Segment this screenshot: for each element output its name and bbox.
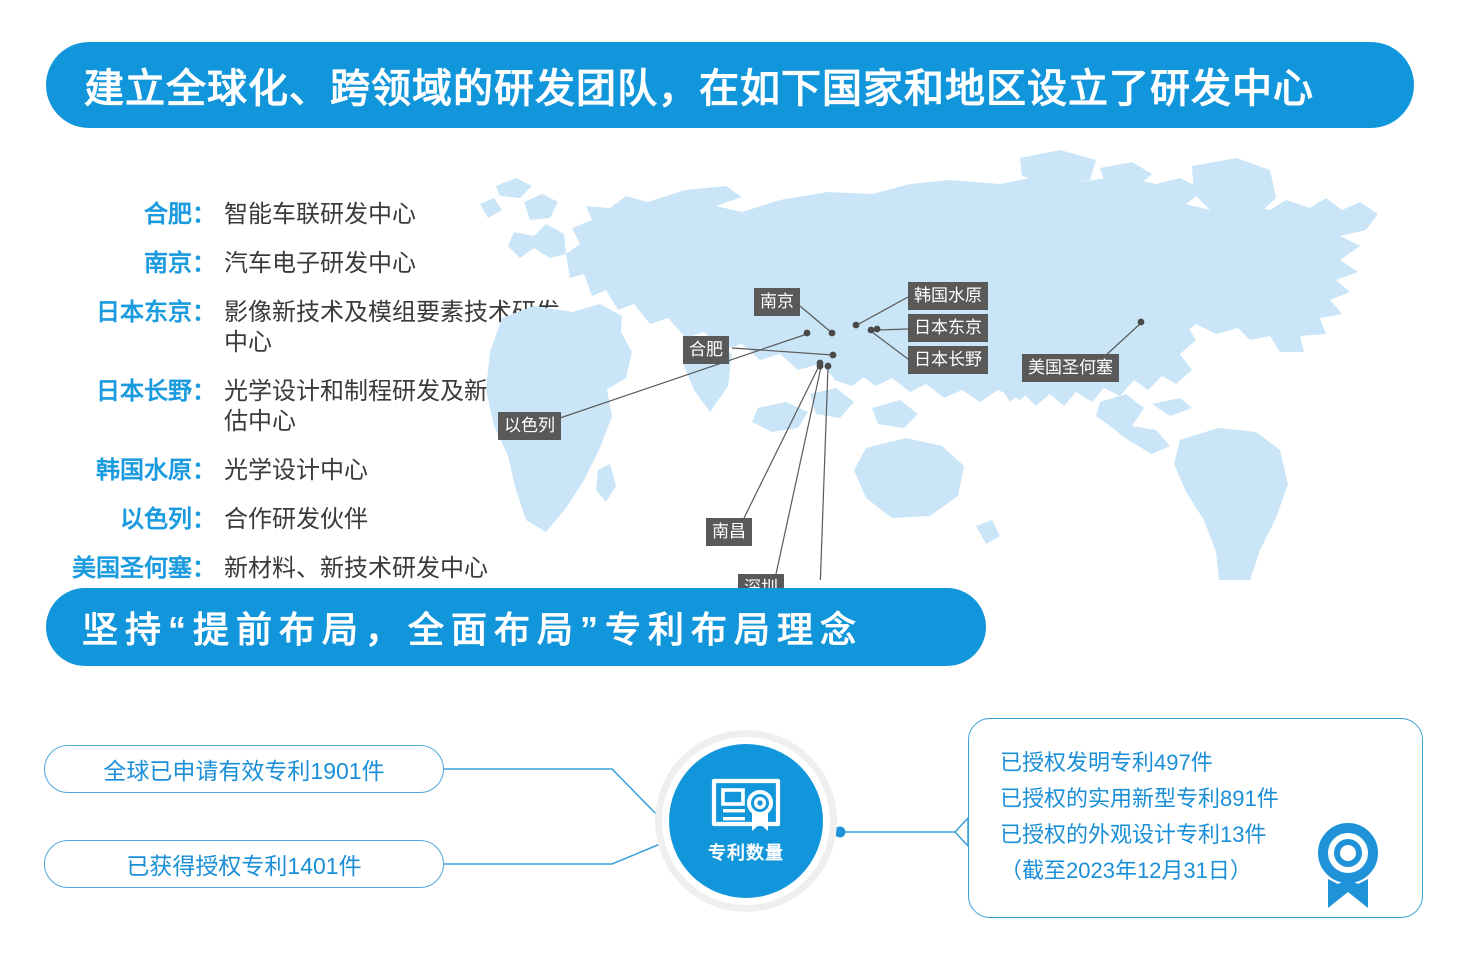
connector-granted-to-hub <box>444 842 665 864</box>
patent-pill-granted-text: 已获得授权专利1401件 <box>126 847 361 881</box>
rd-center-city: 以色列 <box>20 505 192 535</box>
rd-center-city: 南京 <box>20 249 192 279</box>
patent-detail-line: 已授权的实用新型专利891件 <box>1000 781 1360 817</box>
panel-notch <box>955 818 968 846</box>
city-dot-nanjing <box>829 330 836 337</box>
patent-pill-applied-text: 全球已申请有效专利1901件 <box>103 752 384 786</box>
patent-hub-label: 专利数量 <box>708 839 784 865</box>
map-label-nanjing[interactable]: 南京 <box>754 288 800 316</box>
patent-diagram: 全球已申请有效专利1901件 已获得授权专利1401件 专利数量 已授权发明专利… <box>0 690 1459 973</box>
city-dot-tokyo <box>874 326 881 333</box>
city-dot-suwon <box>853 322 860 329</box>
city-dot-israel <box>804 330 811 337</box>
rd-center-city: 韩国水原 <box>20 456 192 486</box>
rd-center-city: 美国圣何塞 <box>20 554 192 584</box>
map-label-israel[interactable]: 以色列 <box>498 412 561 440</box>
rd-center-row: 南京 ： 汽车电子研发中心 <box>20 249 560 279</box>
city-dot-hongkong <box>825 363 832 370</box>
rd-center-city: 合肥 <box>20 200 192 230</box>
new-guinea <box>872 400 918 428</box>
new-zealand <box>976 520 1000 544</box>
medal-icon <box>1315 822 1381 908</box>
patent-detail-line: （截至2023年12月31日） <box>1000 853 1360 889</box>
rd-center-separator: ： <box>192 505 216 535</box>
patent-detail-line: 已授权的外观设计专利13件 <box>1000 817 1360 853</box>
south-america <box>1174 428 1288 580</box>
rd-center-row: 美国圣何塞 ： 新材料、新技术研发中心 <box>20 554 560 584</box>
rd-center-row: 以色列 ： 合作研发伙伴 <box>20 505 560 535</box>
city-dot-sanjose <box>1138 319 1145 326</box>
rd-center-row: 合肥 ： 智能车联研发中心 <box>20 200 560 230</box>
scandinavia-tip <box>496 178 532 198</box>
iceland <box>480 198 502 218</box>
rd-center-row: 韩国水原 ： 光学设计中心 <box>20 456 560 486</box>
patent-detail-lines: 已授权发明专利497件 已授权的实用新型专利891件 已授权的外观设计专利13件… <box>1000 745 1360 889</box>
slide-root: 建立全球化、跨领域的研发团队，在如下国家和地区设立了研发中心 合肥 ： 智能车联… <box>0 0 1459 973</box>
patent-pill-granted[interactable]: 已获得授权专利1401件 <box>44 840 444 888</box>
map-label-tokyo[interactable]: 日本东京 <box>908 314 988 342</box>
city-dot-hefei <box>830 352 837 359</box>
map-label-nagano[interactable]: 日本长野 <box>908 346 988 374</box>
madagascar <box>596 464 616 502</box>
connector-applied-to-hub <box>444 769 665 823</box>
banner-top-text: 建立全球化、跨领域的研发团队，在如下国家和地区设立了研发中心 <box>84 56 1314 114</box>
city-dot-nagano <box>868 327 875 334</box>
map-label-nanchang[interactable]: 南昌 <box>706 518 752 546</box>
australia <box>854 438 964 518</box>
rd-center-separator: ： <box>192 298 216 328</box>
map-label-sanjose[interactable]: 美国圣何塞 <box>1022 354 1119 382</box>
rd-center-row: 日本长野 ： 光学设计和制程研发及新技术评估中心 <box>20 377 560 437</box>
borneo <box>810 388 854 418</box>
leader-line-nanchang <box>744 364 820 518</box>
section-banner-patent-strategy: 坚持“提前布局，全面布局”专利布局理念 <box>46 588 986 666</box>
british-isles <box>524 194 558 220</box>
rd-center-separator: ： <box>192 200 216 230</box>
rd-center-separator: ： <box>192 554 216 584</box>
map-label-suwon[interactable]: 韩国水原 <box>908 282 988 310</box>
caribbean-islands <box>1152 398 1192 416</box>
certificate-icon <box>709 777 783 833</box>
rd-center-separator: ： <box>192 377 216 407</box>
europe-west <box>508 224 566 258</box>
rd-center-city: 日本长野 <box>20 377 192 407</box>
banner-mid-text: 坚持“提前布局，全面布局”专利布局理念 <box>82 601 863 653</box>
patent-detail-line: 已授权发明专利497件 <box>1000 745 1360 781</box>
rd-center-list: 合肥 ： 智能车联研发中心 南京 ： 汽车电子研发中心 日本东京 ： 影像新技术… <box>20 200 560 603</box>
city-dot-shenzhen <box>817 363 824 370</box>
map-label-hefei[interactable]: 合肥 <box>683 336 729 364</box>
patent-pill-applied[interactable]: 全球已申请有效专利1901件 <box>44 745 444 793</box>
rd-center-separator: ： <box>192 249 216 279</box>
world-map: 以色列 合肥 南京 南昌 深圳 香港 韩国水原 日本东京 日本长野 美国圣何塞 <box>480 140 1459 580</box>
rd-center-separator: ： <box>192 456 216 486</box>
rd-center-city: 日本东京 <box>20 298 192 328</box>
patent-hub-circle[interactable]: 专利数量 <box>669 744 823 898</box>
section-banner-rd-centers: 建立全球化、跨领域的研发团队，在如下国家和地区设立了研发中心 <box>46 42 1414 128</box>
leader-line-shenzhen <box>776 367 821 574</box>
rd-center-row: 日本东京 ： 影像新技术及模组要素技术研发中心 <box>20 298 560 358</box>
